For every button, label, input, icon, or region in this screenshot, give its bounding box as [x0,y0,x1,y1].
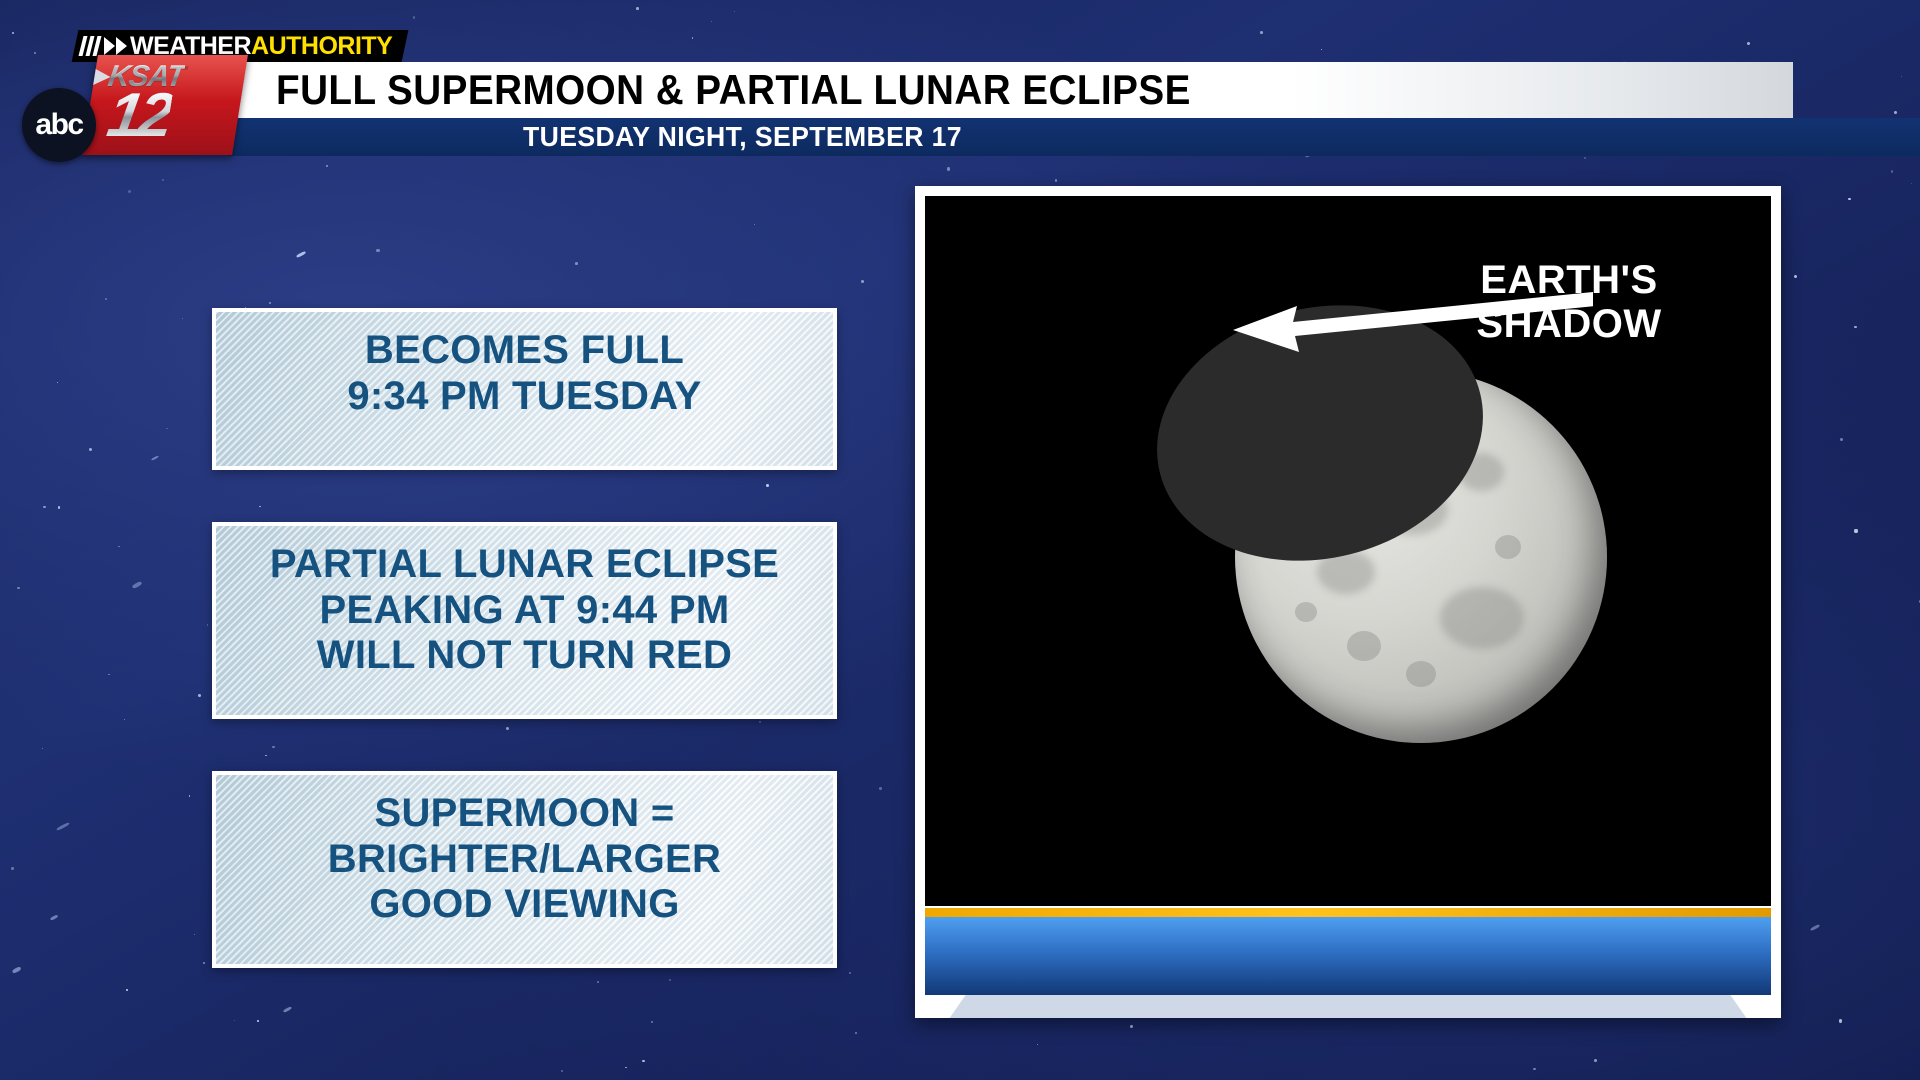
authority-word: AUTHORITY [251,32,392,61]
star [855,1032,857,1034]
info-line: BECOMES FULL [226,328,823,374]
star [128,190,131,193]
star [636,7,639,10]
star [1747,42,1750,45]
star [126,989,128,991]
info-line: SUPERMOON = [226,791,823,837]
info-box-partial-eclipse: PARTIAL LUNAR ECLIPSE PEAKING AT 9:44 PM… [212,522,837,719]
info-line: GOOD VIEWING [226,882,823,928]
star [1260,31,1263,34]
subheadline-bar: TUESDAY NIGHT, SEPTEMBER 17 [228,118,1920,156]
star [89,448,92,451]
star [1848,198,1851,201]
star [118,546,120,548]
headline-bar: FULL SUPERMOON & PARTIAL LUNAR ECLIPSE [228,62,1793,118]
star [11,867,14,870]
ksat-logo: KSAT 12 [82,55,248,155]
star [326,165,328,167]
chevron-right-icon [104,37,115,55]
star [296,251,306,258]
star [1130,1025,1132,1027]
star [642,1060,644,1062]
star [1854,326,1857,329]
earth-shadow-label: EARTH'S SHADOW [1399,258,1739,346]
star [162,179,164,181]
info-line: 9:34 PM TUESDAY [226,374,823,420]
star [269,302,271,304]
star [1810,924,1820,931]
star [711,21,712,22]
star [754,224,755,225]
star [1037,1044,1038,1045]
star [1894,111,1897,114]
earth-shadow-line2: SHADOW [1399,302,1739,346]
blue-accent-strip [925,917,1771,995]
star [42,748,44,750]
abc-label: abc [35,108,82,142]
star [1533,1068,1535,1070]
crater [1495,535,1521,559]
ksat-channel-number: 12 [103,85,174,147]
star [132,581,143,589]
slash-marks-icon [81,36,99,56]
station-branding: WEATHER AUTHORITY KSAT 12 abc [0,0,300,175]
info-box-supermoon: SUPERMOON = BRIGHTER/LARGER GOOD VIEWING [212,771,837,968]
star [50,914,59,920]
crater [1347,631,1381,661]
star [1584,157,1586,159]
info-line: BRIGHTER/LARGER [226,837,823,883]
info-box-becomes-full: BECOMES FULL 9:34 PM TUESDAY [212,308,837,470]
star [151,455,159,461]
star [947,167,950,170]
star [1854,529,1857,532]
star [1891,170,1894,173]
star [56,822,70,831]
star [879,787,882,790]
gold-accent-line [925,908,1771,917]
star [376,249,379,252]
star [1594,1059,1597,1062]
star [1911,183,1912,184]
crater [1295,602,1317,622]
star [198,694,201,697]
info-line: WILL NOT TURN RED [226,633,823,679]
star [692,37,693,38]
star [105,298,107,300]
star [166,428,168,430]
earth-shadow-line1: EARTH'S [1399,258,1739,302]
star [207,624,209,626]
star [849,972,851,974]
star [58,506,61,509]
star [194,934,196,936]
crater [1406,661,1436,687]
star [561,1070,564,1073]
star [734,11,735,12]
star [124,719,125,720]
mare-region [1440,587,1524,649]
star [1840,438,1843,441]
star [1794,275,1797,278]
star [17,587,19,589]
info-box-list: BECOMES FULL 9:34 PM TUESDAY PARTIAL LUN… [212,308,837,1020]
chevron-right-icon-2 [116,37,127,55]
star [57,382,58,383]
star [1901,76,1903,78]
star [625,1067,627,1069]
info-line: PEAKING AT 9:44 PM [226,588,823,634]
star [575,262,578,265]
star [1321,49,1322,50]
star [413,16,416,19]
info-line: PARTIAL LUNAR ECLIPSE [226,542,823,588]
star [43,506,46,509]
star [108,674,110,676]
moon-photo-area: EARTH'S SHADOW [925,196,1771,906]
star [861,280,864,283]
star [1839,1019,1842,1022]
page-subtitle: TUESDAY NIGHT, SEPTEMBER 17 [523,121,962,153]
page-title: FULL SUPERMOON & PARTIAL LUNAR ECLIPSE [276,66,1191,114]
star [11,966,21,974]
moon-image-panel: EARTH'S SHADOW [915,186,1781,1018]
star [182,318,183,319]
star [651,1021,653,1023]
star [189,795,190,796]
abc-network-logo: abc [22,88,96,162]
star [234,1020,235,1021]
star [203,962,205,964]
star [1055,179,1058,182]
star [257,1020,258,1021]
